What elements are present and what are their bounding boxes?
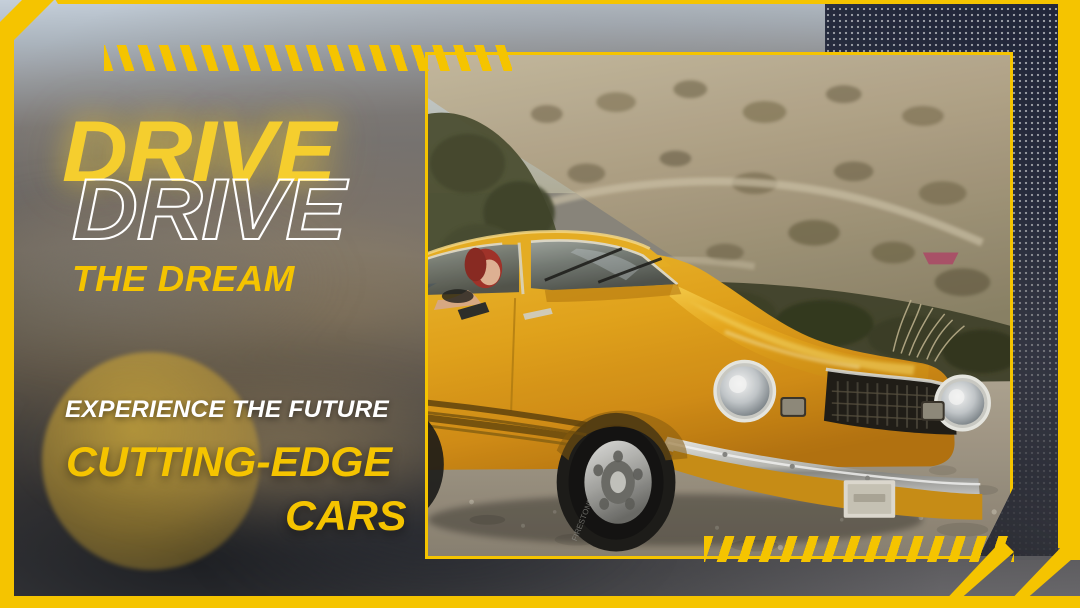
poster-canvas: FIRESTONE DRIVE DRIVE THE DREAM EXP — [0, 0, 1080, 608]
car-photo-panel: FIRESTONE — [425, 52, 1013, 559]
copy-block: DRIVE DRIVE THE DREAM EXPERIENCE THE FUT… — [0, 0, 425, 608]
subtitle: THE DREAM — [72, 258, 295, 300]
headline-line-1: CUTTING-EDGE — [66, 438, 392, 486]
kicker-text: EXPERIENCE THE FUTURE — [65, 396, 389, 424]
diagonal-stripe-band-bottom — [704, 536, 1014, 562]
title-outlined: DRIVE — [72, 170, 345, 252]
headline-line-2: CARS — [285, 492, 406, 540]
car-photo-illustration: FIRESTONE — [428, 55, 1010, 556]
main-title-group: DRIVE DRIVE — [62, 112, 412, 252]
car-photo: FIRESTONE — [428, 55, 1010, 556]
